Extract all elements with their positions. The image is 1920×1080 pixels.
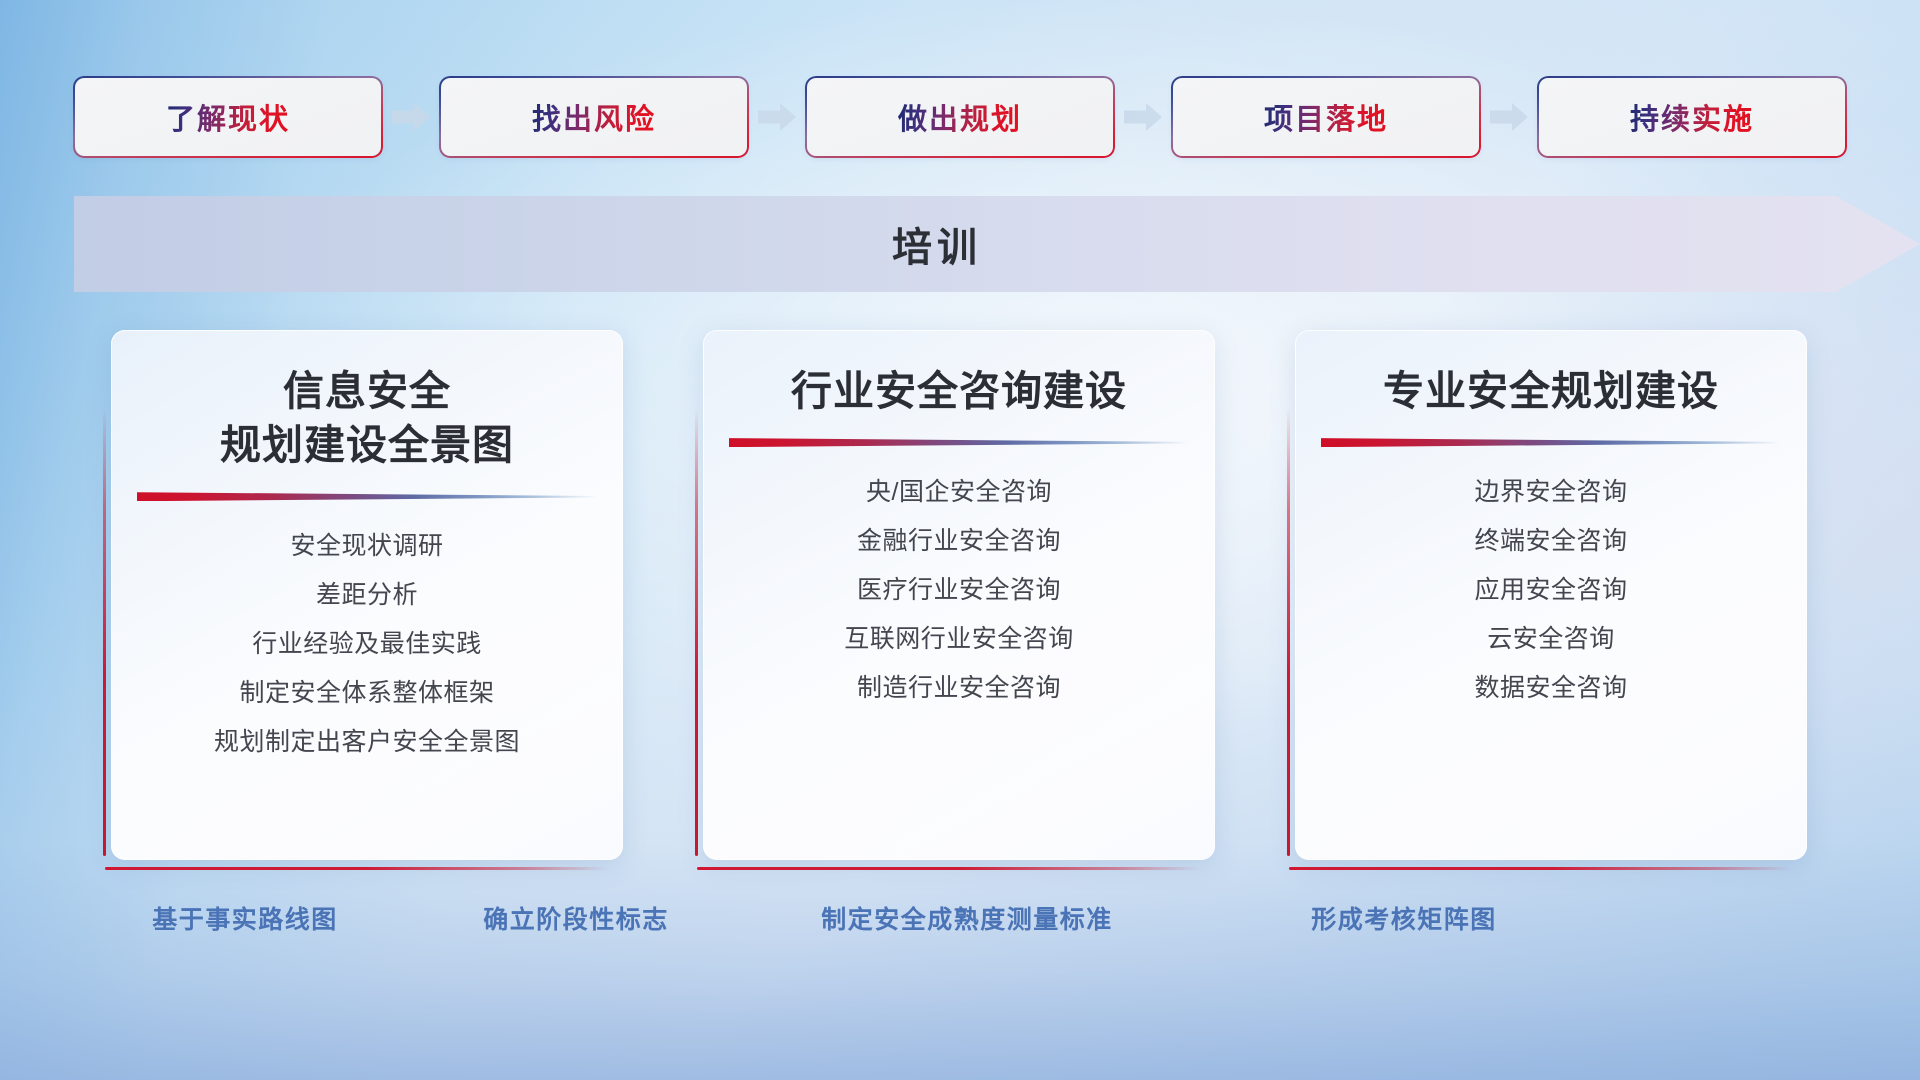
card-title: 信息安全 规划建设全景图 — [220, 364, 514, 472]
card-surface: 行业安全咨询建设 央/国企安全咨询 金融行业安全咨询 医疗行业安全咨询 互联网行… — [703, 330, 1215, 860]
step-item-5[interactable]: 持续实施 — [1539, 78, 1845, 156]
card-surface: 信息安全 规划建设全景图 安全现状调研 差距分析 行业经验及最佳实践 制定安全体… — [111, 330, 623, 860]
training-banner: 培训 — [74, 196, 1920, 292]
caption-label: 确立阶段性标志 — [483, 900, 669, 936]
list-item: 制定安全体系整体框架 — [239, 672, 494, 715]
card-surface: 专业安全规划建设 边界安全咨询 终端安全咨询 应用安全咨询 云安全咨询 数据安全… — [1295, 330, 1807, 860]
list-item: 安全现状调研 — [290, 525, 443, 568]
step-item-3[interactable]: 做出规划 — [807, 78, 1113, 156]
step-label: 项目落地 — [1264, 96, 1388, 138]
card-information-security-blueprint[interactable]: 信息安全 规划建设全景图 安全现状调研 差距分析 行业经验及最佳实践 制定安全体… — [103, 330, 633, 870]
card-bottom-accent-bar — [1289, 867, 1791, 870]
step-label: 找出风险 — [532, 96, 656, 138]
list-item: 数据安全咨询 — [1474, 667, 1627, 710]
caption-label: 制定安全成熟度测量标准 — [821, 900, 1113, 936]
step-label: 了解现状 — [166, 96, 290, 138]
card-item-list: 边界安全咨询 终端安全咨询 应用安全咨询 云安全咨询 数据安全咨询 — [1474, 471, 1627, 710]
caption-row: 基于事实路线图 确立阶段性标志 制定安全成熟度测量标准 形成考核矩阵图 — [0, 900, 1920, 954]
step-label: 持续实施 — [1630, 96, 1754, 138]
card-left-accent-bar — [695, 408, 698, 856]
card-left-accent-bar — [103, 408, 106, 856]
list-item: 终端安全咨询 — [1474, 520, 1627, 563]
list-item: 规划制定出客户安全全景图 — [214, 721, 520, 764]
list-item: 边界安全咨询 — [1474, 471, 1627, 514]
card-item-list: 央/国企安全咨询 金融行业安全咨询 医疗行业安全咨询 互联网行业安全咨询 制造行… — [844, 471, 1074, 710]
card-row: 信息安全 规划建设全景图 安全现状调研 差距分析 行业经验及最佳实践 制定安全体… — [0, 330, 1920, 870]
list-item: 金融行业安全咨询 — [857, 520, 1061, 563]
card-professional-security-planning[interactable]: 专业安全规划建设 边界安全咨询 终端安全咨询 应用安全咨询 云安全咨询 数据安全… — [1287, 330, 1817, 870]
step-item-2[interactable]: 找出风险 — [441, 78, 747, 156]
card-divider — [1321, 434, 1781, 449]
step-item-4[interactable]: 项目落地 — [1173, 78, 1479, 156]
card-left-accent-bar — [1287, 408, 1290, 856]
card-bottom-accent-bar — [105, 867, 607, 870]
arrow-right-icon — [1124, 103, 1162, 131]
arrow-right-icon — [1490, 103, 1528, 131]
card-title: 行业安全咨询建设 — [791, 364, 1127, 418]
caption-label: 基于事实路线图 — [152, 900, 338, 936]
banner-title: 培训 — [74, 196, 1920, 292]
card-title: 专业安全规划建设 — [1383, 364, 1719, 418]
arrow-right-icon — [758, 103, 796, 131]
list-item: 应用安全咨询 — [1474, 569, 1627, 612]
process-step-row: 了解现状 找出风险 做出规划 项目落地 持续实施 — [0, 76, 1920, 158]
list-item: 云安全咨询 — [1487, 618, 1615, 661]
card-industry-security-consulting[interactable]: 行业安全咨询建设 央/国企安全咨询 金融行业安全咨询 医疗行业安全咨询 互联网行… — [695, 330, 1225, 870]
list-item: 互联网行业安全咨询 — [844, 618, 1074, 661]
card-bottom-accent-bar — [697, 867, 1199, 870]
card-item-list: 安全现状调研 差距分析 行业经验及最佳实践 制定安全体系整体框架 规划制定出客户… — [214, 525, 520, 764]
list-item: 制造行业安全咨询 — [857, 667, 1061, 710]
list-item: 央/国企安全咨询 — [866, 471, 1052, 514]
step-item-1[interactable]: 了解现状 — [75, 78, 381, 156]
step-label: 做出规划 — [898, 96, 1022, 138]
card-divider — [729, 434, 1189, 449]
list-item: 行业经验及最佳实践 — [252, 623, 482, 666]
card-divider — [137, 488, 597, 503]
list-item: 差距分析 — [316, 574, 418, 617]
caption-label: 形成考核矩阵图 — [1311, 900, 1497, 936]
list-item: 医疗行业安全咨询 — [857, 569, 1061, 612]
arrow-right-icon — [392, 103, 430, 131]
